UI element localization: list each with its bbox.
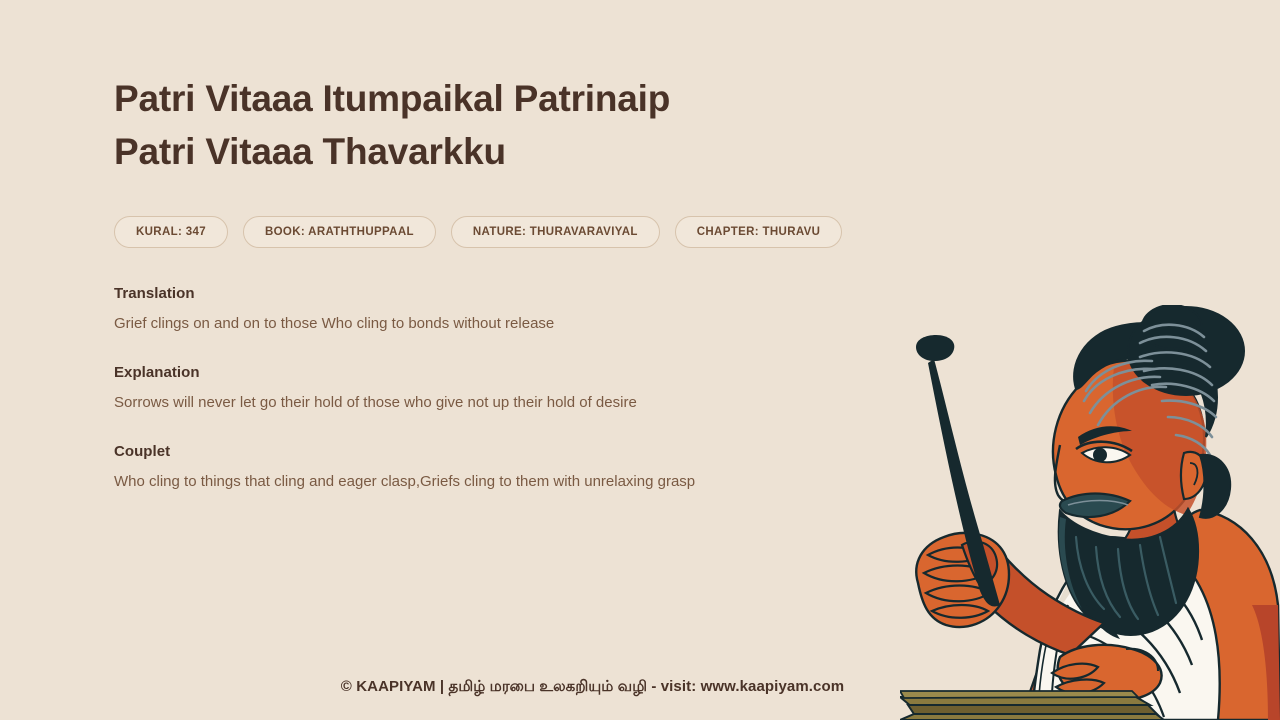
translation-text: Grief clings on and on to those Who clin… [114, 314, 914, 334]
footer-credit: © KAAPIYAM | தமிழ் மரபை உலகறியும் வழி - … [0, 678, 1185, 697]
metadata-badges: KURAL: 347 BOOK: ARATHTHUPPAAL NATURE: T… [114, 216, 914, 248]
translation-heading: Translation [114, 285, 914, 302]
badge-chapter[interactable]: CHAPTER: THURAVU [675, 216, 843, 248]
couplet-heading: Couplet [114, 443, 914, 460]
badge-nature[interactable]: NATURE: THURAVARAVIYAL [451, 216, 660, 248]
section-explanation: Explanation Sorrows will never let go th… [114, 364, 914, 413]
badge-kural[interactable]: KURAL: 347 [114, 216, 228, 248]
explanation-text: Sorrows will never let go their hold of … [114, 393, 914, 413]
explanation-heading: Explanation [114, 364, 914, 381]
page-title: Patri Vitaaa Itumpaikal Patrinaip Patri … [114, 72, 914, 178]
section-translation: Translation Grief clings on and on to th… [114, 285, 914, 334]
kural-card: Patri Vitaaa Itumpaikal Patrinaip Patri … [0, 0, 1280, 720]
couplet-text: Who cling to things that cling and eager… [114, 472, 914, 492]
badge-book[interactable]: BOOK: ARATHTHUPPAAL [243, 216, 436, 248]
section-couplet: Couplet Who cling to things that cling a… [114, 443, 914, 492]
kural-content: Patri Vitaaa Itumpaikal Patrinaip Patri … [114, 72, 914, 492]
thiruvalluvar-writing-illustration [900, 305, 1280, 720]
